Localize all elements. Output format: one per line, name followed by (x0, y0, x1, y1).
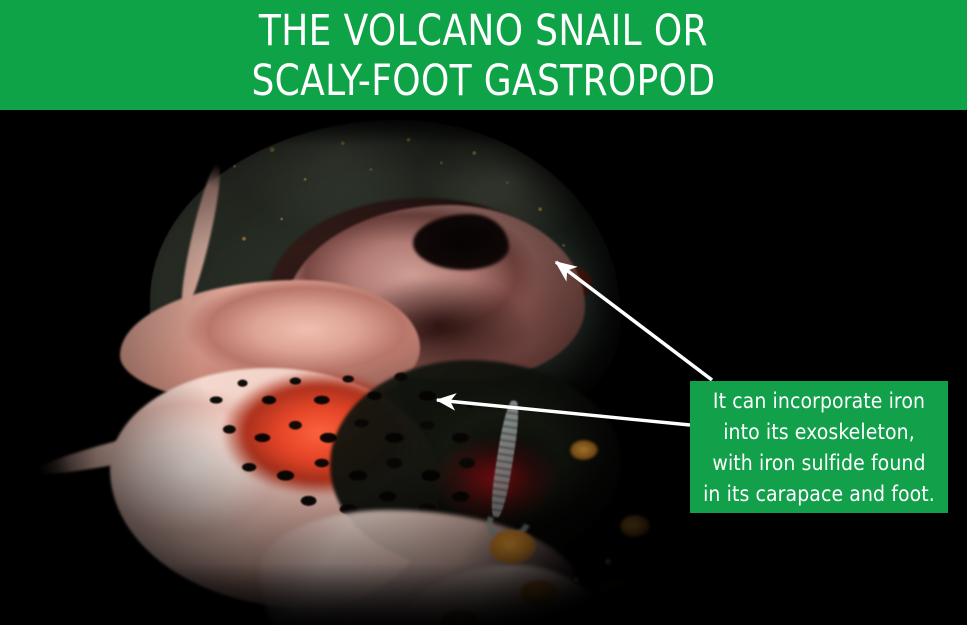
encrusted-rubble (540, 540, 740, 625)
callout-line-2: into its exoskeleton, (723, 417, 915, 448)
page-title-line-2: SCALY-FOOT GASTROPOD (251, 56, 715, 106)
callout-line-3: with iron sulfide found (712, 448, 925, 479)
aperture-slit (413, 214, 509, 270)
callout-line-4: in its carapace and foot. (703, 479, 935, 510)
title-banner: THE VOLCANO SNAIL OR SCALY-FOOT GASTROPO… (0, 0, 967, 110)
page-title-line-1: THE VOLCANO SNAIL OR (259, 6, 708, 56)
callout-line-1: It can incorporate iron (713, 386, 925, 417)
infographic-root: THE VOLCANO SNAIL OR SCALY-FOOT GASTROPO… (0, 0, 967, 625)
fact-callout-box: It can incorporate iron into its exoskel… (690, 381, 948, 513)
sediment-cluster (620, 515, 650, 537)
snail-photograph (0, 110, 967, 625)
